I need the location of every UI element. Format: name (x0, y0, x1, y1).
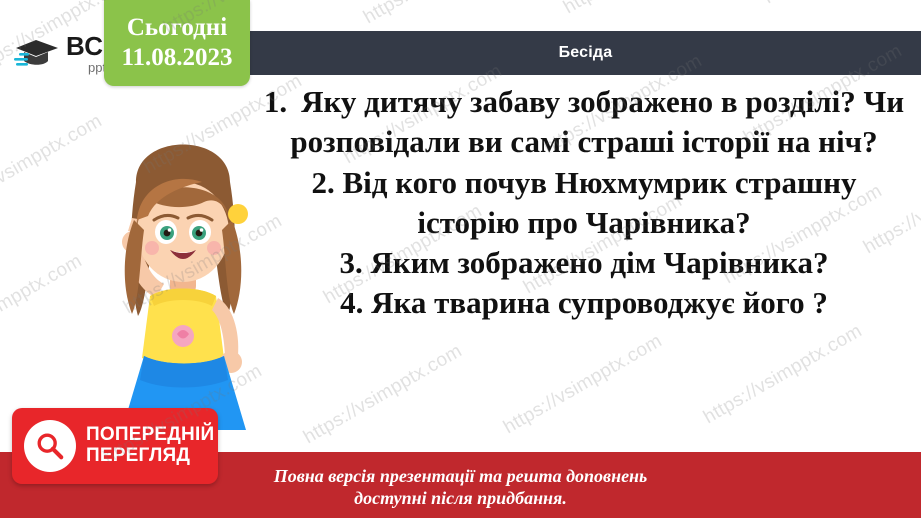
date-badge-value: 11.08.2023 (121, 45, 232, 71)
question-text-1: Яку дитячу забаву зображено в розділі? Ч… (290, 84, 904, 159)
question-item-1: 1.Яку дитячу забаву зображено в розділі?… (258, 82, 910, 163)
question-number-3: 3. (339, 245, 362, 280)
question-text-3: Яким зображено дім Чарівника? (370, 245, 828, 280)
question-number-4: 4. (340, 285, 363, 320)
preview-button-line2: ПЕРЕГЛЯД (86, 446, 214, 467)
slide-header: Бесіда (250, 31, 921, 75)
girl-cartoon-character (78, 90, 288, 430)
date-badge: Сьогодні 11.08.2023 (104, 0, 250, 86)
question-item-3: 3. Яким зображено дім Чарівника? (258, 243, 910, 283)
watermark: https://vsimpptx.com (500, 330, 666, 439)
graduation-cap-icon (14, 36, 60, 70)
date-badge-label: Сьогодні (127, 15, 227, 41)
slide: BCIM pptx Сьогодні 11.08.2023 Бесіда 1.Я… (0, 0, 921, 518)
question-item-2: 2. Від кого почув Нюхмумрик страшну істо… (258, 163, 910, 244)
page-title: Бесіда (559, 44, 613, 62)
watermark: https://vsimpptx.com (700, 320, 866, 429)
watermark: https://vsimpptx.com (560, 0, 726, 19)
question-item-4: 4. Яка тварина супроводжує його ? (258, 283, 910, 323)
preview-button-line1: ПОПЕРЕДНІЙ (86, 425, 214, 446)
magnifier-icon (24, 420, 76, 472)
watermark: https://vsimpptx.com (360, 0, 526, 29)
question-number-2: 2. (311, 165, 334, 200)
watermark: https://vsimpptx.com (300, 340, 466, 449)
preview-button[interactable]: ПОПЕРЕДНІЙ ПЕРЕГЛЯД (12, 408, 218, 484)
watermark: https://vsimpptx.com (760, 0, 921, 9)
question-text-2: Від кого почув Нюхмумрик страшну історію… (342, 165, 856, 240)
purchase-notice-line2: доступні після придбання. (354, 487, 567, 510)
watermark: https://vsimpptx.com (0, 250, 86, 359)
question-text-4: Яка тварина супроводжує його ? (371, 285, 828, 320)
purchase-notice-line1: Повна версія презентації та решта доповн… (274, 465, 648, 488)
questions-list: 1.Яку дитячу забаву зображено в розділі?… (258, 82, 910, 324)
